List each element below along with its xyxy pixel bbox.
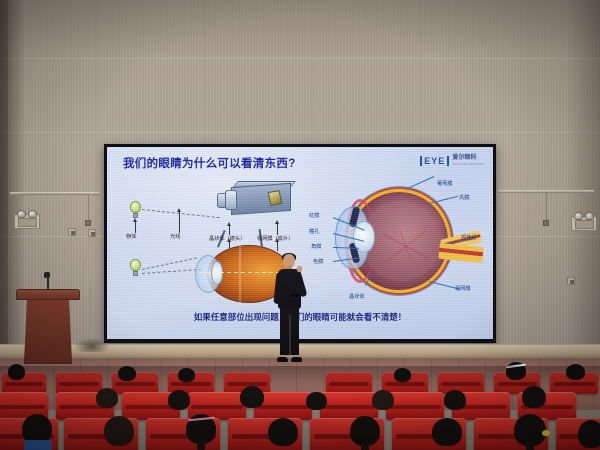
audience-head — [372, 390, 394, 410]
light-path-line — [142, 257, 197, 270]
audience-head — [96, 388, 118, 408]
wall-right-shadow — [566, 0, 600, 365]
audience-head — [118, 366, 136, 381]
light-bulb-icon — [129, 259, 142, 276]
light-path-line — [142, 269, 202, 274]
wall-seam — [528, 0, 529, 365]
eye-anatomy-diagram: 虹膜 瞳孔 角膜 色膜 晶状体 葡萄膜 巩膜 视神经 视网膜 — [309, 173, 485, 313]
audience-head — [268, 418, 298, 446]
label-pupil: 瞳孔 — [309, 229, 319, 235]
audience-head — [350, 416, 380, 446]
hanging-junction-box — [543, 220, 549, 226]
label-object: 物体 — [126, 234, 136, 240]
right-wall-emergency-light — [571, 216, 597, 231]
presenter-shoe — [291, 357, 302, 362]
wall-outlet[interactable] — [68, 228, 76, 236]
label-iris: 虹膜 — [309, 213, 319, 219]
wall-outlet[interactable] — [567, 277, 575, 285]
emergency-lamp-head-icon — [17, 210, 26, 218]
wall-outlet[interactable] — [88, 229, 96, 237]
student-uniform — [24, 440, 52, 450]
audience-head — [514, 414, 546, 446]
label-crystalline-lens: 晶状体 — [349, 294, 365, 300]
wall-conduit — [10, 192, 100, 195]
label-cornea: 角膜 — [311, 244, 321, 250]
microphone-stem — [47, 276, 49, 290]
audience-head — [240, 386, 264, 408]
label-pointer — [135, 221, 136, 233]
label-uvea: 葡萄膜 — [437, 181, 453, 187]
leader-line — [405, 176, 435, 190]
emergency-lamp-panel — [18, 218, 37, 227]
label-conjunctiva: 色膜 — [313, 259, 323, 265]
cable-bundle — [74, 338, 110, 352]
audience-head — [306, 392, 327, 410]
seat[interactable] — [326, 372, 372, 394]
audience-head — [8, 364, 25, 380]
retinal-vessels — [383, 231, 429, 261]
camera-illustration — [213, 181, 291, 225]
emergency-lamp-head-icon — [28, 210, 37, 218]
audience-head — [566, 364, 585, 380]
hair-bow — [542, 430, 550, 436]
audience-area — [0, 366, 600, 450]
presentation-clicker — [291, 294, 300, 297]
label-retina: 视网膜 — [455, 286, 471, 292]
hanging-wire — [88, 195, 89, 221]
audience-head — [394, 368, 411, 382]
presenter-hand — [297, 266, 302, 272]
lectern-body — [24, 300, 72, 364]
label-sclera: 巩膜 — [459, 195, 469, 201]
label-pointer — [229, 225, 230, 235]
audience-head — [522, 386, 546, 408]
presenter — [272, 254, 306, 362]
eye-wordmark: EYE — [420, 156, 449, 166]
wall-seam — [0, 58, 600, 59]
label-lens: 晶状体（镜头） — [209, 236, 245, 242]
audience-head — [432, 418, 462, 446]
auditorium-scene: 我们的眼睛为什么可以看清东西? EYE 爱尔眼科 AIER EYE HOSPIT… — [0, 0, 600, 450]
audience-head — [104, 416, 134, 446]
label-pointer — [179, 211, 180, 233]
aier-eye-logo: EYE 爱尔眼科 AIER EYE HOSPITAL — [420, 155, 485, 167]
audience-head — [178, 368, 195, 382]
label-light-ray: 光线 — [170, 234, 180, 240]
label-pointer — [229, 241, 230, 249]
audience-head — [444, 390, 466, 410]
emergency-lamp-head-icon — [585, 212, 594, 220]
hanging-wire — [546, 193, 547, 221]
hanging-junction-box — [85, 220, 91, 226]
audience-head — [168, 390, 190, 410]
slide-title: 我们的眼睛为什么可以看清东西? — [123, 155, 296, 171]
audience-head — [578, 420, 600, 448]
brand-cn-sub: AIER EYE HOSPITAL — [452, 161, 485, 167]
lectern-top — [16, 289, 80, 300]
emergency-lamp-head-icon — [574, 212, 583, 220]
wall-seam — [0, 132, 600, 133]
presenter-legs — [280, 307, 299, 355]
brand-chinese-name: 爱尔眼科 AIER EYE HOSPITAL — [452, 155, 485, 167]
ceiling-shadow-band — [0, 0, 600, 58]
light-bulb-icon — [129, 201, 142, 218]
lectern[interactable] — [16, 289, 80, 364]
presenter-shoe — [277, 357, 288, 362]
label-retina-film: 视网膜（底片） — [257, 236, 293, 242]
seat[interactable] — [386, 392, 444, 420]
label-pointer — [277, 223, 278, 235]
label-optic-nerve: 视神经 — [461, 235, 477, 241]
seat[interactable] — [56, 372, 102, 394]
floor-cable — [90, 270, 98, 342]
emergency-lamp-panel — [575, 220, 594, 229]
left-wall-emergency-light — [14, 214, 40, 229]
label-pointer — [277, 241, 278, 251]
